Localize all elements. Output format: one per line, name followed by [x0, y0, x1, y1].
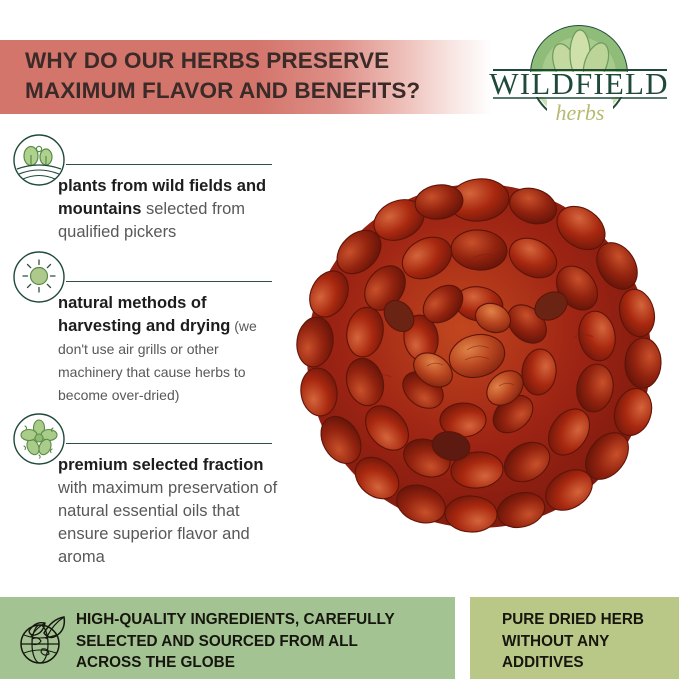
product-photo-dried-rose-hips [281, 158, 677, 554]
logo-sub-wordmark: herbs [556, 100, 605, 125]
feature-text-premium-fraction: premium selected fraction with maximum p… [58, 454, 286, 569]
bottom-banner-pure-text: PURE DRIED HERB WITHOUT ANY ADDITIVES [502, 609, 677, 674]
globe-leaf-icon [14, 611, 70, 667]
brand-logo: WILDFIELD herbs [487, 18, 672, 130]
feature-text-natural-drying: natural methods of harvesting and drying… [58, 292, 286, 407]
feature-divider [66, 443, 272, 444]
page-title: WHY DO OUR HERBS PRESERVE MAXIMUM FLAVOR… [25, 46, 465, 106]
feature-text-wild-fields: plants from wild fields and mountains se… [58, 175, 286, 244]
feature-divider [66, 164, 272, 165]
bottom-banner-pure: PURE DRIED HERB WITHOUT ANY ADDITIVES [470, 597, 679, 679]
feature-divider [66, 281, 272, 282]
logo-wordmark: WILDFIELD [489, 66, 669, 101]
bottom-banner-quality: HIGH-QUALITY INGREDIENTS, CAREFULLY SELE… [0, 597, 455, 679]
feature-regular-3: with maximum preservation of natural ess… [58, 479, 277, 566]
bottom-banner-quality-text: HIGH-QUALITY INGREDIENTS, CAREFULLY SELE… [76, 609, 446, 674]
feature-bold-3: premium selected fraction [58, 456, 263, 474]
feature-bold-2: natural methods of harvesting and drying [58, 294, 230, 335]
